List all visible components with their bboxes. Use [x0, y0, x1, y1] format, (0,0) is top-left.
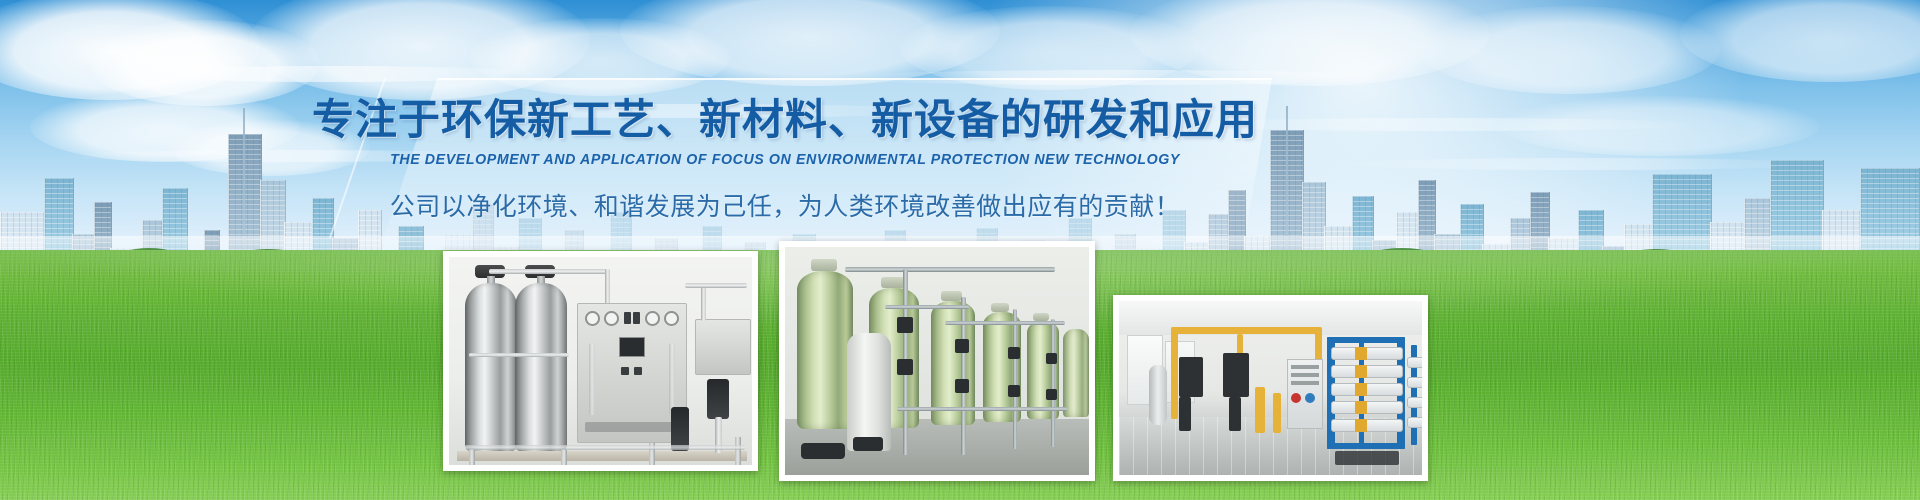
hero-banner: 专注于环保新工艺、新材料、新设备的研发和应用 THE DEVELOPMENT A… [0, 0, 1920, 500]
photo-stainless-ro-skid-image [449, 257, 752, 465]
photo-frp-filter-vessels[interactable] [779, 241, 1095, 481]
photo-ro-membrane-hall-image [1119, 301, 1422, 475]
photo-frp-filter-vessels-image [785, 247, 1089, 475]
photo-ro-membrane-hall[interactable] [1113, 295, 1428, 481]
photo-stainless-ro-skid[interactable] [443, 251, 758, 471]
